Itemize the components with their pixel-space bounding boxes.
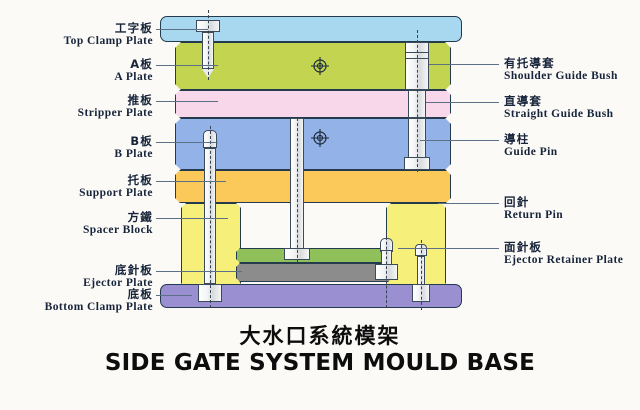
title-english: SIDE GATE SYSTEM MOULD BASE	[0, 350, 640, 376]
title-chinese: 大水口系統模架	[0, 320, 640, 350]
leader-support-plate	[156, 181, 226, 182]
label-shoulder-guide-bush-cn: 有托導套	[504, 57, 618, 69]
cap-screw-centerline	[208, 10, 209, 80]
leader-shoulder-guide-bush	[429, 64, 499, 65]
label-top-clamp-plate-cn: 工字板	[64, 22, 153, 34]
leader-guide-pin	[420, 140, 499, 141]
label-spacer-block: 方鐵 Spacer Block	[83, 211, 153, 236]
label-bottom-clamp-plate-cn: 底板	[45, 288, 153, 300]
label-a-plate-en: A Plate	[114, 71, 153, 83]
bottom-screw-centerline	[421, 240, 422, 310]
leader-straight-guide-bush	[426, 102, 499, 103]
label-bottom-clamp-plate-en: Bottom Clamp Plate	[45, 301, 153, 313]
label-return-pin-en: Return Pin	[504, 209, 563, 221]
leader-top-clamp-plate	[156, 29, 208, 30]
label-spacer-block-cn: 方鐵	[83, 211, 153, 223]
leader-stripper-plate	[156, 101, 218, 102]
label-straight-guide-bush-en: Straight Guide Bush	[504, 108, 614, 120]
plate-ejector-retainer-outline	[236, 248, 392, 263]
guide-pin-centerline	[417, 30, 418, 172]
return-pin-left-centerline	[210, 126, 211, 308]
label-support-plate-cn: 托板	[79, 174, 153, 186]
datum-mark-b-plate	[310, 128, 330, 148]
label-guide-pin-cn: 導柱	[504, 133, 558, 145]
label-b-plate-en: B Plate	[114, 148, 153, 160]
label-guide-pin-en: Guide Pin	[504, 146, 558, 158]
leader-b-plate	[156, 142, 218, 143]
ejector-pin-center-centerline	[297, 118, 298, 263]
label-stripper-plate-en: Stripper Plate	[78, 107, 153, 119]
diagram-page: 工字板 Top Clamp Plate A板 A Plate 推板 Stripp…	[0, 0, 640, 410]
label-stripper-plate: 推板 Stripper Plate	[78, 94, 153, 119]
leader-a-plate	[156, 65, 218, 66]
label-return-pin-cn: 回針	[504, 196, 563, 208]
plate-support-outline	[175, 170, 451, 203]
return-pin-right-centerline	[386, 232, 387, 308]
leader-ejector-retainer-plate	[398, 248, 499, 249]
label-ejector-retainer-plate-en: Ejector Retainer Plate	[504, 254, 623, 266]
label-spacer-block-en: Spacer Block	[83, 224, 153, 236]
leader-spacer-block	[156, 218, 228, 219]
label-top-clamp-plate-en: Top Clamp Plate	[64, 35, 153, 47]
label-straight-guide-bush: 直導套 Straight Guide Bush	[504, 95, 614, 120]
label-straight-guide-bush-cn: 直導套	[504, 95, 614, 107]
label-ejector-plate: 底針板 Ejector Plate	[83, 264, 153, 289]
label-b-plate-cn: B板	[114, 135, 153, 147]
label-bottom-clamp-plate: 底板 Bottom Clamp Plate	[45, 288, 153, 313]
label-shoulder-guide-bush-en: Shoulder Guide Bush	[504, 70, 618, 82]
plate-ejector-outline	[236, 263, 392, 282]
label-guide-pin: 導柱 Guide Pin	[504, 133, 558, 158]
label-stripper-plate-cn: 推板	[78, 94, 153, 106]
label-top-clamp-plate: 工字板 Top Clamp Plate	[64, 22, 153, 47]
label-ejector-plate-cn: 底針板	[83, 264, 153, 276]
label-ejector-retainer-plate-cn: 面針板	[504, 241, 623, 253]
label-shoulder-guide-bush: 有托導套 Shoulder Guide Bush	[504, 57, 618, 82]
leader-ejector-plate	[156, 271, 242, 272]
leader-return-pin	[438, 203, 499, 204]
label-return-pin: 回針 Return Pin	[504, 196, 563, 221]
datum-mark-a-plate	[310, 56, 330, 76]
label-ejector-retainer-plate: 面針板 Ejector Retainer Plate	[504, 241, 623, 266]
leader-bottom-clamp-plate	[156, 295, 192, 296]
label-b-plate: B板 B Plate	[114, 135, 153, 160]
label-support-plate-en: Support Plate	[79, 187, 153, 199]
label-a-plate-cn: A板	[114, 58, 153, 70]
label-a-plate: A板 A Plate	[114, 58, 153, 83]
label-support-plate: 托板 Support Plate	[79, 174, 153, 199]
